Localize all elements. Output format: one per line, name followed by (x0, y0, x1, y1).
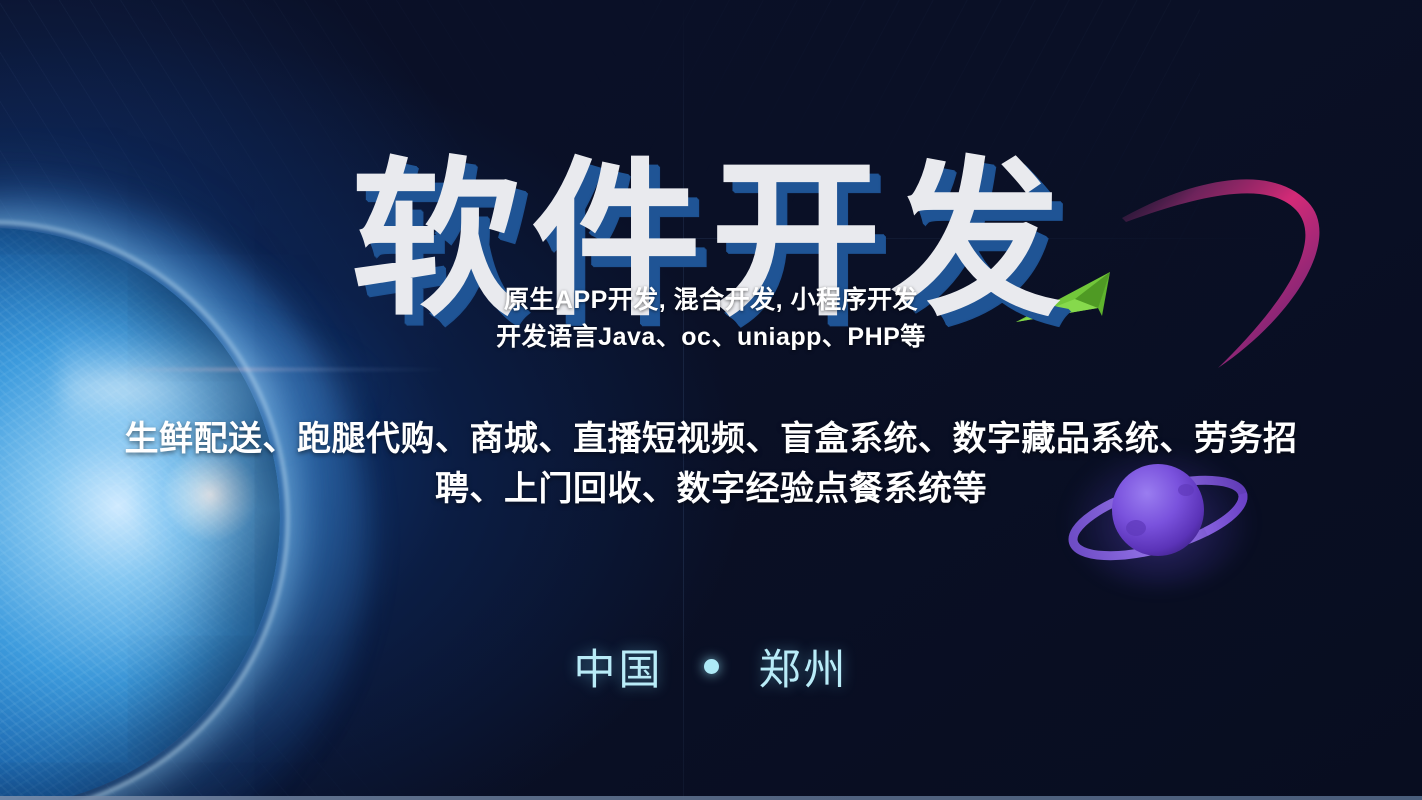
lens-flare-streak (120, 368, 450, 371)
poster-canvas: 软件开发 原生APP开发, 混合开发, 小程序开发 开发语言Java、oc、un… (0, 0, 1422, 800)
location-city: 郑州 (759, 636, 849, 697)
bottom-edge-strip (0, 796, 1422, 800)
services-text: 生鲜配送、跑腿代购、商城、直播短视频、盲盒系统、数字藏品系统、劳务招聘、上门回收… (120, 414, 1302, 514)
subtitle-block: 原生APP开发, 混合开发, 小程序开发 开发语言Java、oc、uniapp、… (0, 282, 1422, 356)
location-block: 中国 郑州 (0, 636, 1422, 697)
subtitle-line-1: 原生APP开发, 混合开发, 小程序开发 (0, 282, 1422, 319)
dot-separator-icon (704, 659, 719, 674)
location-country: 中国 (573, 636, 663, 697)
subtitle-line-2: 开发语言Java、oc、uniapp、PHP等 (0, 319, 1422, 356)
